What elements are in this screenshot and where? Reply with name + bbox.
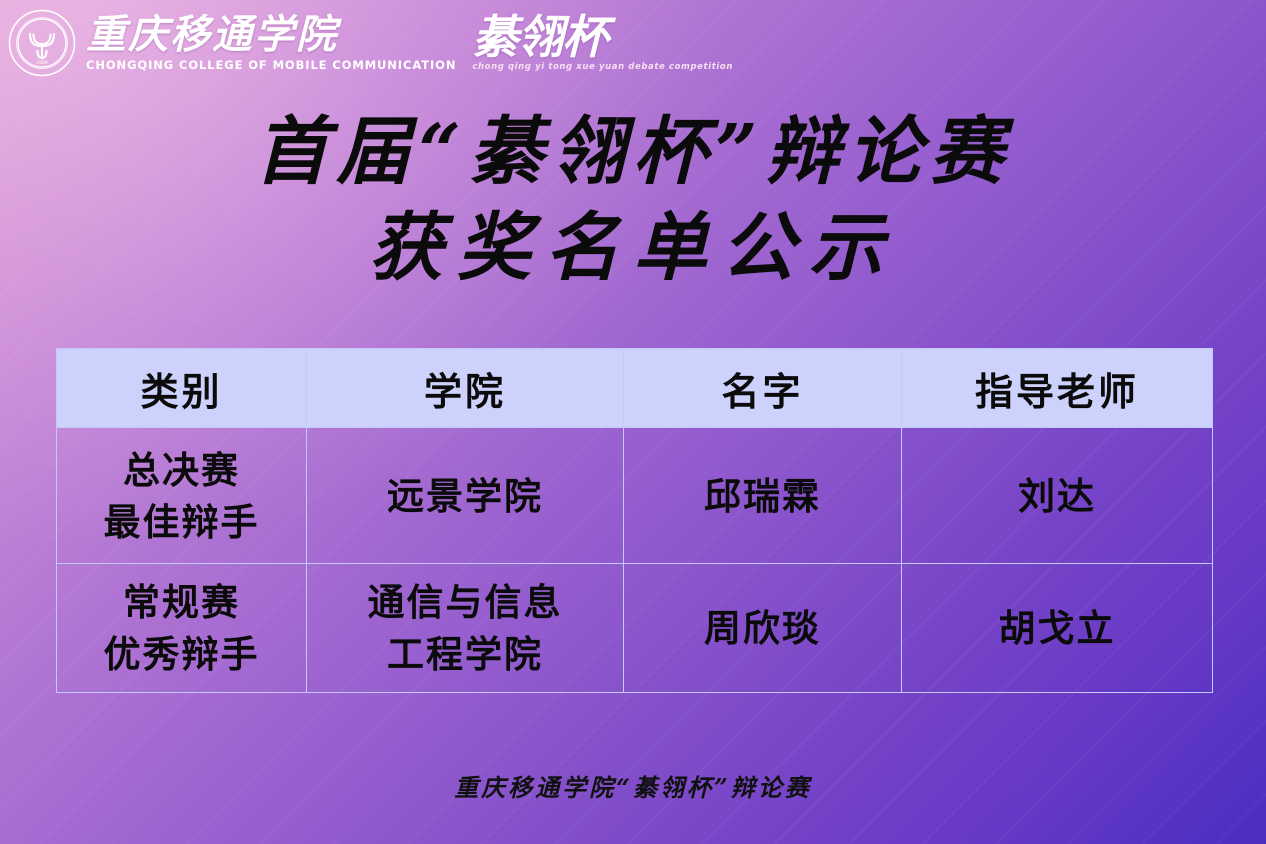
school-name-en: CHONGQING COLLEGE OF MOBILE COMMUNICATIO… xyxy=(86,60,456,72)
school-name-cn: 重庆移通学院 xyxy=(86,15,456,55)
cell-college: 通信与信息 工程学院 xyxy=(307,564,624,693)
column-header-college: 学院 xyxy=(307,349,624,428)
award-list-table: 类别 学院 名字 指导老师 总决赛 最佳辩手 远景学院 邱瑞霖 刘达 常规赛 优… xyxy=(56,348,1213,693)
table-row: 常规赛 优秀辩手 通信与信息 工程学院 周欣琰 胡戈立 xyxy=(57,564,1213,693)
award-announcement-poster: 2009 重庆移通学院 CHONGQING COLLEGE OF MOBILE … xyxy=(0,0,1266,844)
school-crest-icon: 2009 xyxy=(8,9,76,77)
cup-logo-cn: 綦翎杯 xyxy=(472,14,733,60)
cell-college: 远景学院 xyxy=(307,428,624,564)
column-header-name: 名字 xyxy=(624,349,902,428)
title-line-2: 获奖名单公示 xyxy=(0,200,1266,296)
cell-name: 周欣琰 xyxy=(624,564,902,693)
column-header-category: 类别 xyxy=(57,349,307,428)
cell-category-line-1: 总决赛 xyxy=(57,444,306,496)
cell-category: 常规赛 优秀辩手 xyxy=(57,564,307,693)
cell-college-line-2: 工程学院 xyxy=(307,628,623,680)
table-row: 总决赛 最佳辩手 远景学院 邱瑞霖 刘达 xyxy=(57,428,1213,564)
table-header-row: 类别 学院 名字 指导老师 xyxy=(57,349,1213,428)
cell-name: 邱瑞霖 xyxy=(624,428,902,564)
svg-text:2009: 2009 xyxy=(36,60,48,66)
title-line-1: 首届“綦翎杯”辩论赛 xyxy=(0,104,1266,200)
page-title: 首届“綦翎杯”辩论赛 获奖名单公示 xyxy=(0,104,1266,296)
cell-category-line-2: 优秀辩手 xyxy=(57,628,306,680)
cell-advisor: 胡戈立 xyxy=(902,564,1213,693)
cell-category-line-1: 常规赛 xyxy=(57,576,306,628)
table-body: 总决赛 最佳辩手 远景学院 邱瑞霖 刘达 常规赛 优秀辩手 通信与信息 工程学院… xyxy=(57,428,1213,693)
column-header-advisor: 指导老师 xyxy=(902,349,1213,428)
cup-logo-en: chong qing yi tong xue yuan debate compe… xyxy=(472,63,733,72)
school-name-block: 重庆移通学院 CHONGQING COLLEGE OF MOBILE COMMU… xyxy=(86,15,456,72)
footer-caption: 重庆移通学院“綦翎杯”辩论赛 xyxy=(0,768,1266,803)
cell-category: 总决赛 最佳辩手 xyxy=(57,428,307,564)
cell-college-line-1: 通信与信息 xyxy=(307,576,623,628)
cell-advisor: 刘达 xyxy=(902,428,1213,564)
cup-logo-block: 綦翎杯 chong qing yi tong xue yuan debate c… xyxy=(472,14,733,72)
table-header: 类别 学院 名字 指导老师 xyxy=(57,349,1213,428)
header-logo-bar: 2009 重庆移通学院 CHONGQING COLLEGE OF MOBILE … xyxy=(8,4,733,82)
cell-category-line-2: 最佳辩手 xyxy=(57,496,306,548)
